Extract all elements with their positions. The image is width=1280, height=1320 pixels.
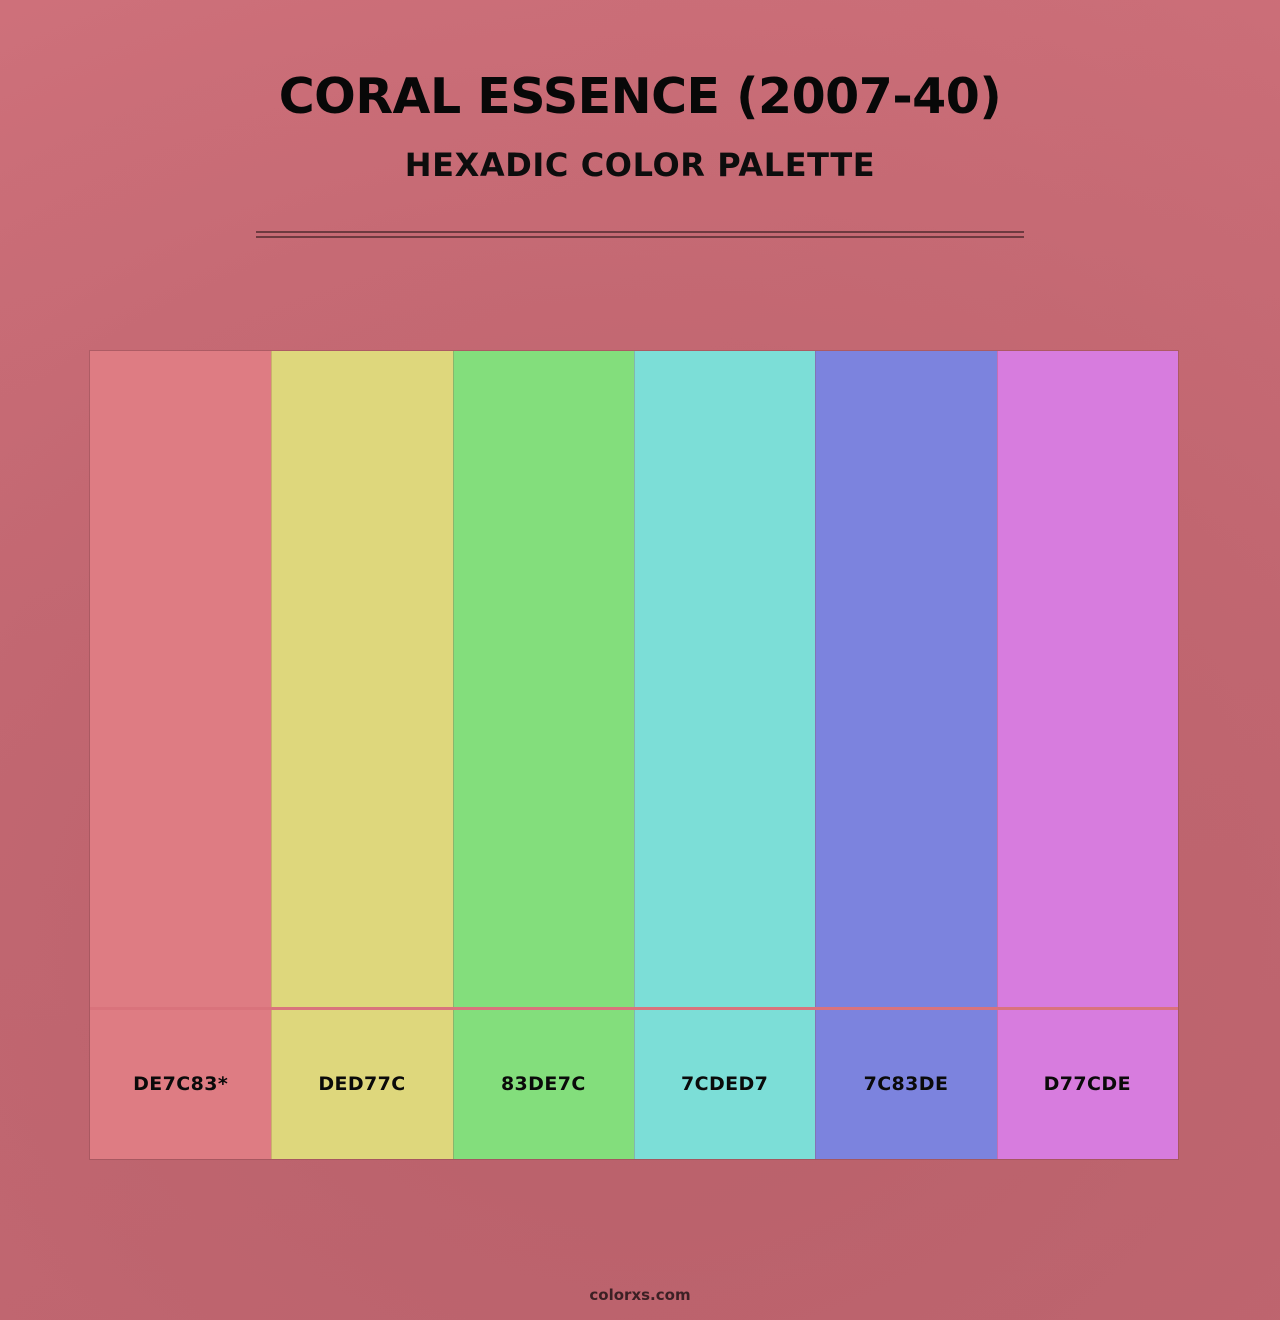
color-swatch[interactable]: [997, 351, 1178, 1007]
color-hex-label: DE7C83*: [133, 1073, 228, 1095]
site-attribution: colorxs.com: [589, 1286, 690, 1304]
color-swatch[interactable]: [90, 351, 271, 1007]
color-label-cell[interactable]: DED77C: [271, 1010, 452, 1159]
color-label-cell[interactable]: 7C83DE: [815, 1010, 996, 1159]
header: CORAL ESSENCE (2007-40) HEXADIC COLOR PA…: [0, 0, 1280, 181]
color-swatch[interactable]: [815, 351, 996, 1007]
color-palette-page: CORAL ESSENCE (2007-40) HEXADIC COLOR PA…: [0, 0, 1280, 1320]
color-swatch[interactable]: [453, 351, 634, 1007]
color-label-cell[interactable]: 83DE7C: [453, 1010, 634, 1159]
color-hex-label: D77CDE: [1044, 1073, 1131, 1095]
color-hex-label: DED77C: [318, 1073, 405, 1095]
palette-block: DE7C83* DED77C 83DE7C 7CDED7 7C83DE D77C…: [90, 351, 1178, 1159]
color-hex-label: 83DE7C: [501, 1073, 586, 1095]
swatch-row: [90, 351, 1178, 1007]
color-hex-label: 7CDED7: [681, 1073, 768, 1095]
color-label-cell[interactable]: 7CDED7: [634, 1010, 815, 1159]
footer: colorxs.com: [0, 1285, 1280, 1304]
page-title: CORAL ESSENCE (2007-40): [0, 0, 1280, 121]
divider-rule-top: [256, 231, 1024, 233]
swatch-label-row: DE7C83* DED77C 83DE7C 7CDED7 7C83DE D77C…: [90, 1007, 1178, 1159]
title-divider: [256, 231, 1024, 239]
color-label-cell[interactable]: D77CDE: [997, 1010, 1178, 1159]
color-swatch[interactable]: [634, 351, 815, 1007]
color-swatch[interactable]: [271, 351, 452, 1007]
divider-rule-bottom: [256, 236, 1024, 238]
page-subtitle: HEXADIC COLOR PALETTE: [0, 121, 1280, 181]
color-hex-label: 7C83DE: [864, 1073, 949, 1095]
color-label-cell[interactable]: DE7C83*: [90, 1010, 271, 1159]
